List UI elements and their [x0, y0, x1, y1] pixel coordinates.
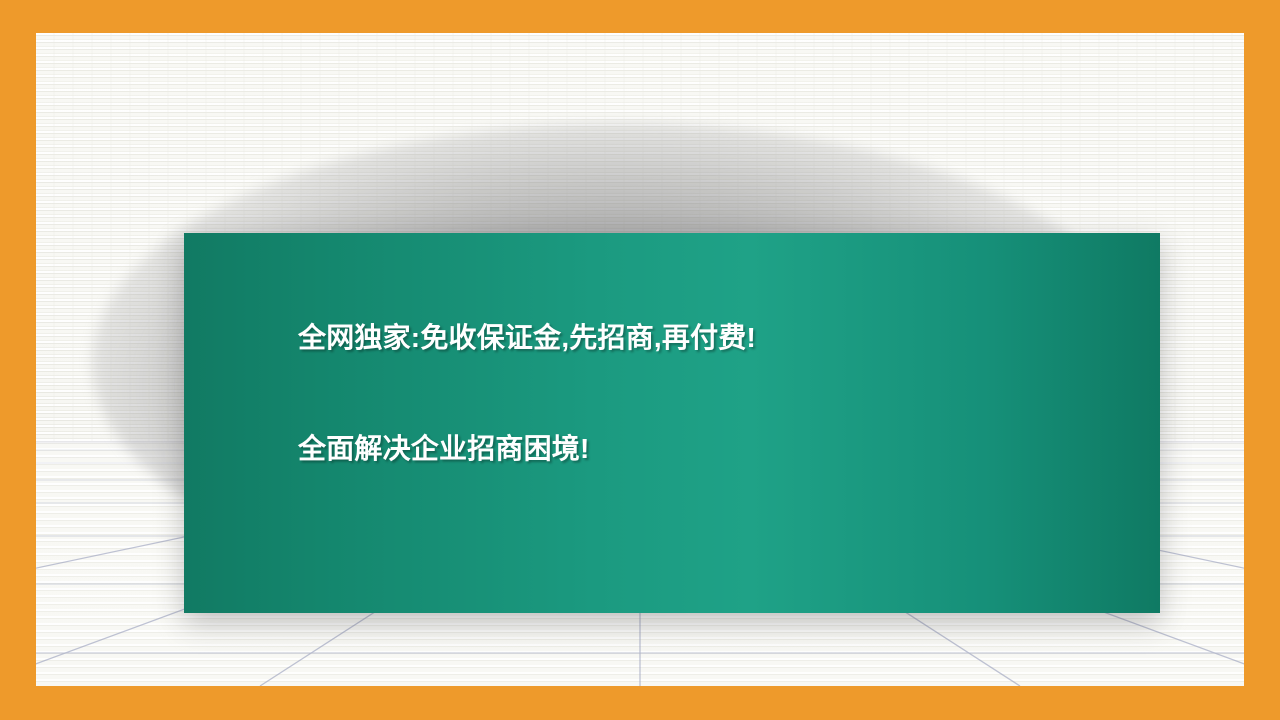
message-text-block: 全网独家:免收保证金,先招商,再付费! 全面解决企业招商困境! 合作即签订保障协…	[298, 245, 1146, 686]
stage-room: 全网独家:免收保证金,先招商,再付费! 全面解决企业招商困境! 合作即签订保障协…	[36, 33, 1244, 686]
message-paragraph-offer-line-1: 全网独家:免收保证金,先招商,再付费!	[298, 319, 1146, 356]
message-card: 全网独家:免收保证金,先招商,再付费! 全面解决企业招商困境! 合作即签订保障协…	[184, 233, 1160, 613]
slide-root: 全网独家:免收保证金,先招商,再付费! 全面解决企业招商困境! 合作即签订保障协…	[0, 0, 1280, 720]
message-paragraph-offer-line-2: 全面解决企业招商困境!	[298, 430, 1146, 467]
paragraph-gap-1	[298, 578, 1146, 615]
